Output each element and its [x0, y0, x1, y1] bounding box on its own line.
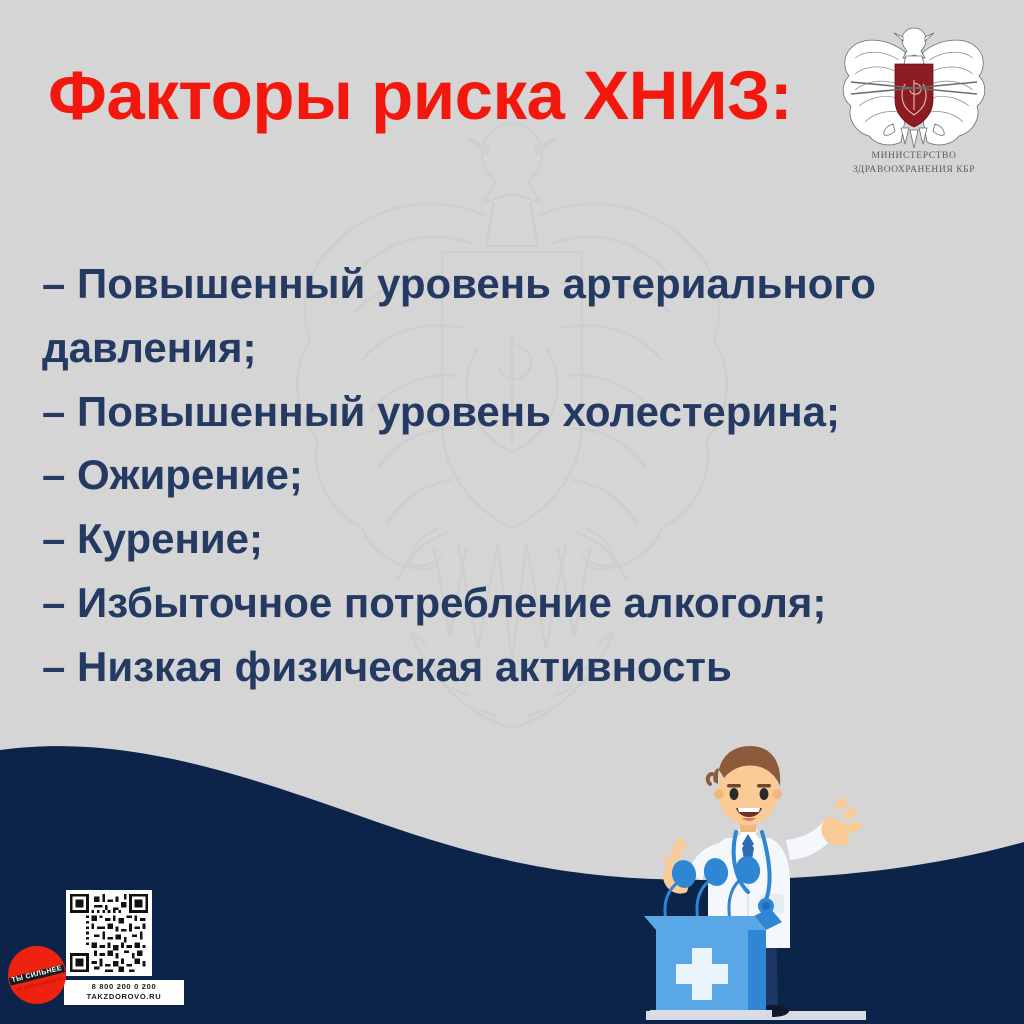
ministry-eagle-icon — [839, 24, 989, 150]
list-item: – Низкая физическая активность — [42, 635, 1014, 699]
list-item: – Ожирение; — [42, 443, 1014, 507]
ministry-logo: МИНИСТЕРСТВО ЗДРАВООХРАНЕНИЯ КБР — [826, 24, 1002, 194]
poster-root: Факторы риска ХНИЗ: — [0, 0, 1024, 1024]
promo-contact-label: 8 800 200 0 200 TAKZDOROVO.RU — [64, 980, 184, 1005]
promo-site: TAKZDOROVO.RU — [64, 992, 184, 1002]
qr-code-icon[interactable] — [66, 890, 152, 976]
ministry-line-2: ЗДРАВООХРАНЕНИЯ КБР — [826, 164, 1002, 178]
risk-factor-list: – Повышенный уровень артериального давле… — [42, 252, 1014, 699]
ty-silnee-stamp: ТЫ СИЛЬНЕЕ НЕ ЗАВИСИМОСТИ — [8, 946, 66, 1004]
page-title: Факторы риска ХНИЗ: — [48, 60, 792, 132]
list-item: – Повышенный уровень артериального давле… — [42, 252, 1014, 380]
ministry-line-1: МИНИСТЕРСТВО — [826, 150, 1002, 164]
promo-phone: 8 800 200 0 200 — [64, 982, 184, 992]
list-item: – Повышенный уровень холестерина; — [42, 380, 1014, 444]
doctor-at-podium-illustration — [626, 734, 886, 1024]
list-item: – Курение; — [42, 507, 1014, 571]
takzdorovo-promo: 8 800 200 0 200 TAKZDOROVO.RU ТЫ СИЛЬНЕЕ… — [8, 890, 194, 1012]
list-item: – Избыточное потребление алкоголя; — [42, 571, 1014, 635]
